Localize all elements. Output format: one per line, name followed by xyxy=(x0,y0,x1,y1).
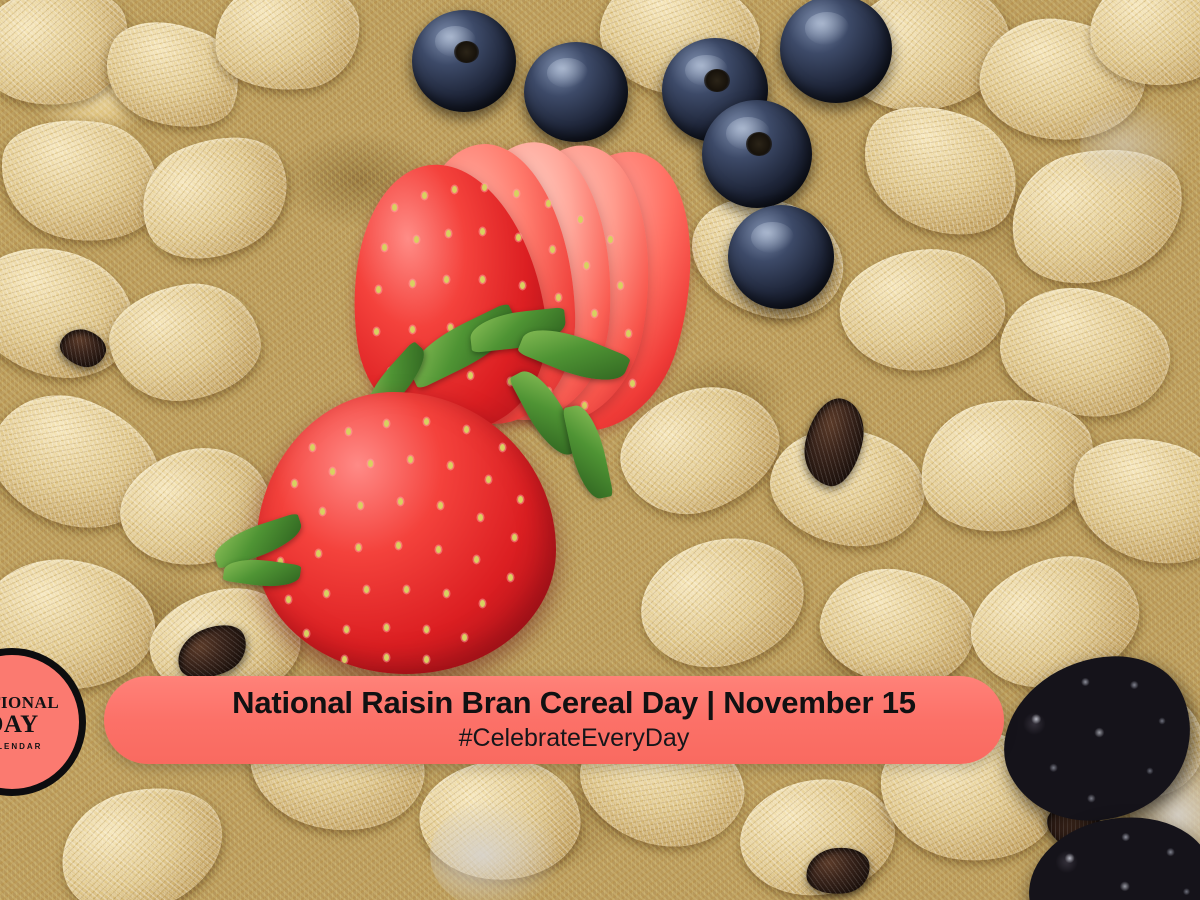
logo-line-national: NATIONAL xyxy=(0,693,59,713)
blueberry-calyx xyxy=(746,132,772,156)
plate-backdrop xyxy=(430,800,560,900)
blueberry xyxy=(780,0,892,103)
blueberry-calyx xyxy=(704,69,729,92)
plate-backdrop xyxy=(1080,100,1190,190)
event-banner: National Raisin Bran Cereal Day | Novemb… xyxy=(104,676,1004,764)
blueberry xyxy=(524,42,628,142)
logo-line-day: DAY xyxy=(0,711,39,739)
blueberry xyxy=(412,10,516,112)
blueberry-bloom xyxy=(805,12,850,44)
banner-title: National Raisin Bran Cereal Day | Novemb… xyxy=(192,687,916,720)
blueberry-calyx xyxy=(454,41,479,63)
blueberry-bloom xyxy=(751,222,793,253)
logo-line-calendar: CALENDAR xyxy=(0,742,42,751)
photo-canvas: National Raisin Bran Cereal Day | Novemb… xyxy=(0,0,1200,900)
banner-hashtag: #CelebrateEveryDay xyxy=(419,723,690,753)
blueberry-bloom xyxy=(547,58,589,88)
blueberry xyxy=(728,205,834,309)
